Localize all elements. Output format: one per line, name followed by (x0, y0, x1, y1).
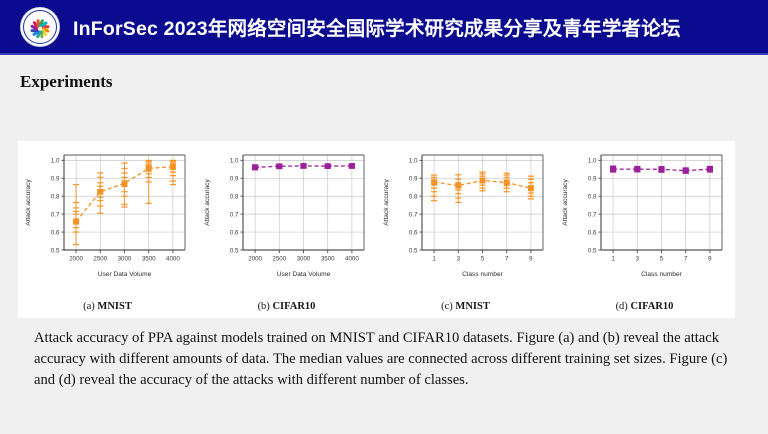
svg-text:User Data Volume: User Data Volume (277, 271, 331, 278)
svg-text:3500: 3500 (142, 256, 156, 263)
svg-text:1: 1 (611, 256, 615, 263)
svg-text:0.5: 0.5 (230, 247, 239, 254)
svg-text:Attack accuracy: Attack accuracy (204, 179, 211, 226)
svg-text:0.6: 0.6 (230, 229, 239, 236)
svg-text:0.9: 0.9 (230, 176, 239, 183)
svg-text:0.8: 0.8 (409, 194, 418, 201)
svg-text:3000: 3000 (297, 256, 311, 263)
svg-text:1.0: 1.0 (230, 158, 239, 165)
svg-text:2500: 2500 (272, 256, 286, 263)
chart-c-subcaption: (c) MNIST (376, 301, 555, 312)
svg-text:Class number: Class number (641, 271, 682, 278)
svg-text:2000: 2000 (248, 256, 262, 263)
svg-text:Attack accuracy: Attack accuracy (562, 179, 569, 226)
svg-text:2500: 2500 (93, 256, 107, 263)
svg-text:3: 3 (457, 256, 461, 263)
chart-d-plot: 0.50.60.70.80.91.013579Class numberAttac… (555, 145, 734, 280)
chart-c-plot: 0.50.60.70.80.91.013579Class numberAttac… (376, 145, 555, 280)
svg-text:9: 9 (529, 256, 533, 263)
svg-text:0.9: 0.9 (409, 176, 418, 183)
chart-b-plot-area: 0.50.60.70.80.91.020002500300035004000Us… (197, 145, 376, 280)
svg-text:3: 3 (636, 256, 640, 263)
svg-text:Attack accuracy: Attack accuracy (383, 179, 390, 226)
chart-a-subcaption: (a) MNIST (18, 301, 197, 312)
svg-text:5: 5 (481, 256, 485, 263)
svg-text:0.7: 0.7 (51, 211, 60, 218)
chart-d-subcaption: (d) CIFAR10 (555, 301, 734, 312)
chart-a-plot-area: 0.50.60.70.80.91.020002500300035004000Us… (18, 145, 197, 280)
svg-text:0.5: 0.5 (409, 247, 418, 254)
svg-text:3000: 3000 (118, 256, 132, 263)
svg-text:0.8: 0.8 (51, 194, 60, 201)
svg-text:1.0: 1.0 (51, 158, 60, 165)
svg-text:0.7: 0.7 (588, 211, 597, 218)
title-banner: InForSec 2023年网络空间安全国际学术研究成果分享及青年学者论坛 (0, 0, 768, 55)
chart-b: 0.50.60.70.80.91.020002500300035004000Us… (197, 141, 376, 318)
figure-panel: 0.50.60.70.80.91.020002500300035004000Us… (18, 141, 735, 318)
svg-text:0.5: 0.5 (588, 247, 597, 254)
page-title: Experiments (20, 72, 113, 92)
svg-text:0.7: 0.7 (230, 211, 239, 218)
chart-c-plot-area: 0.50.60.70.80.91.013579Class numberAttac… (376, 145, 555, 280)
chart-b-subcaption: (b) CIFAR10 (197, 301, 376, 312)
chart-a-plot: 0.50.60.70.80.91.020002500300035004000Us… (18, 145, 197, 280)
svg-text:0.8: 0.8 (230, 194, 239, 201)
svg-text:User Data Volume: User Data Volume (98, 271, 152, 278)
svg-text:4000: 4000 (345, 256, 359, 263)
svg-text:1: 1 (432, 256, 436, 263)
inforsec-logo (21, 8, 59, 46)
svg-text:0.9: 0.9 (51, 176, 60, 183)
svg-text:0.8: 0.8 (588, 194, 597, 201)
svg-text:Class number: Class number (462, 271, 503, 278)
figure-caption: Attack accuracy of PPA against models tr… (34, 328, 740, 391)
svg-text:0.6: 0.6 (409, 229, 418, 236)
svg-text:4000: 4000 (166, 256, 180, 263)
chart-b-plot: 0.50.60.70.80.91.020002500300035004000Us… (197, 145, 376, 280)
svg-text:0.7: 0.7 (409, 211, 418, 218)
svg-text:3500: 3500 (321, 256, 335, 263)
svg-text:0.6: 0.6 (588, 229, 597, 236)
chart-d-plot-area: 0.50.60.70.80.91.013579Class numberAttac… (555, 145, 734, 280)
svg-text:7: 7 (505, 256, 509, 263)
chart-d: 0.50.60.70.80.91.013579Class numberAttac… (555, 141, 734, 318)
banner-title: InForSec 2023年网络空间安全国际学术研究成果分享及青年学者论坛 (73, 12, 681, 41)
svg-text:9: 9 (708, 256, 712, 263)
svg-text:0.9: 0.9 (588, 176, 597, 183)
svg-text:5: 5 (660, 256, 664, 263)
chart-a: 0.50.60.70.80.91.020002500300035004000Us… (18, 141, 197, 318)
svg-text:2000: 2000 (69, 256, 83, 263)
svg-text:0.6: 0.6 (51, 229, 60, 236)
svg-text:Attack accuracy: Attack accuracy (25, 179, 32, 226)
svg-text:1.0: 1.0 (409, 158, 418, 165)
svg-text:0.5: 0.5 (51, 247, 60, 254)
svg-text:7: 7 (684, 256, 688, 263)
chart-c: 0.50.60.70.80.91.013579Class numberAttac… (376, 141, 555, 318)
svg-text:1.0: 1.0 (588, 158, 597, 165)
